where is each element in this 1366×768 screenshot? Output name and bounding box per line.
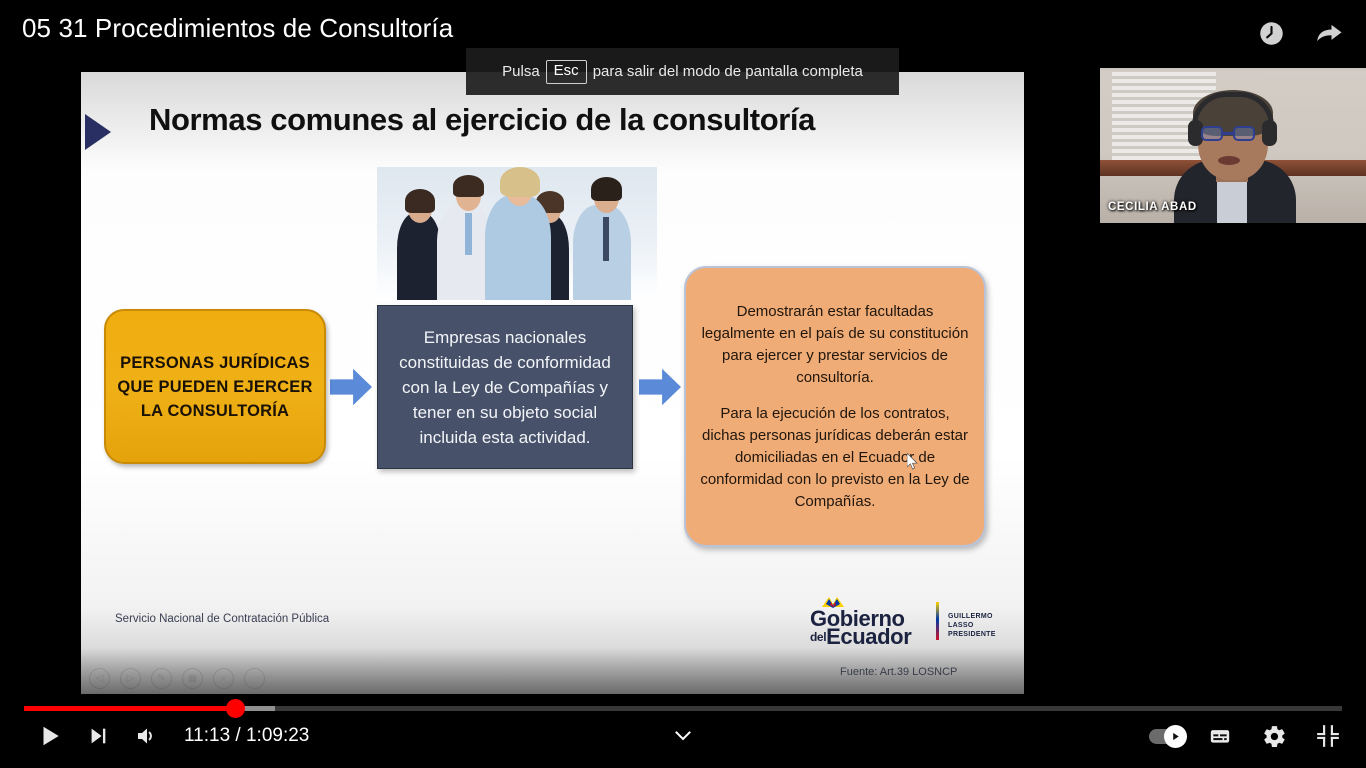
- logo-del-text: del: [810, 630, 826, 644]
- fullscreen-exit-toast: Pulsa Esc para salir del modo de pantall…: [466, 48, 899, 95]
- president-name: GUILLERMO LASSO: [948, 612, 1008, 630]
- video-title: 05 31 Procedimientos de Consultoría: [22, 13, 453, 44]
- logo-ecuador-word: Ecuador: [826, 624, 911, 649]
- box-empresas-nacionales: Empresas nacionales constituidas de conf…: [377, 305, 633, 469]
- subtitles-icon[interactable]: [1196, 712, 1244, 760]
- time-display: 11:13 / 1:09:23: [184, 725, 309, 747]
- progress-played: [24, 706, 237, 711]
- speaker-shirt: [1217, 178, 1247, 223]
- play-button[interactable]: [26, 712, 74, 760]
- expand-description-button[interactable]: [668, 722, 698, 750]
- autoplay-toggle-knob: [1164, 725, 1187, 748]
- gobierno-ecuador-logo: Gobierno delEcuador GUILLERMO LASSO PRES…: [808, 596, 1008, 642]
- glasses-bridge-icon: [1223, 132, 1233, 135]
- speaker-mouth: [1218, 156, 1240, 165]
- box-personas-juridicas: PERSONAS JURÍDICAS QUE PUEDEN EJERCER LA…: [104, 309, 326, 464]
- settings-gear-icon[interactable]: [1250, 712, 1298, 760]
- title-bullet-icon: [85, 114, 111, 150]
- flow-arrow-1-icon: [330, 368, 372, 406]
- watch-later-icon[interactable]: [1252, 14, 1290, 52]
- top-right-actions[interactable]: [1252, 14, 1348, 52]
- esc-key-badge: Esc: [546, 60, 587, 84]
- slide-title: Normas comunes al ejercicio de la consul…: [149, 102, 815, 138]
- player-controls-right[interactable]: [1142, 712, 1352, 760]
- progress-bar[interactable]: [24, 706, 1342, 711]
- business-people-photo: [377, 167, 657, 300]
- logo-divider: [936, 602, 939, 640]
- box-peach-paragraph-1: Demostrarán estar facultadas legalmente …: [700, 301, 970, 389]
- glasses-right-lens-icon: [1233, 126, 1255, 141]
- autoplay-toggle-button[interactable]: [1142, 712, 1190, 760]
- exit-fullscreen-icon[interactable]: [1304, 712, 1352, 760]
- next-video-button[interactable]: [74, 712, 122, 760]
- box-requisitos-domicilio: Demostrarán estar facultadas legalmente …: [684, 266, 986, 547]
- glasses-left-lens-icon: [1201, 126, 1223, 141]
- president-label: GUILLERMO LASSO PRESIDENTE: [948, 612, 1008, 639]
- presentation-slide: Normas comunes al ejercicio de la consul…: [81, 72, 1024, 694]
- flow-arrow-2-icon: [639, 368, 681, 406]
- player-controls-left[interactable]: 11:13 / 1:09:23: [26, 712, 309, 760]
- logo-ecuador-text: delEcuador: [810, 624, 911, 650]
- box-peach-paragraph-2: Para la ejecución de los contratos, dich…: [700, 403, 970, 513]
- autoplay-toggle-track[interactable]: [1149, 729, 1183, 744]
- mouse-cursor-icon: [907, 453, 918, 470]
- video-player[interactable]: Normas comunes al ejercicio de la consul…: [0, 0, 1366, 768]
- share-icon[interactable]: [1310, 14, 1348, 52]
- toast-prefix-text: Pulsa: [502, 63, 540, 80]
- volume-button[interactable]: [122, 712, 170, 760]
- speaker-webcam-overlay: CECILIA ABAD: [1100, 68, 1366, 223]
- toast-suffix-text: para salir del modo de pantalla completa: [593, 63, 863, 80]
- president-title: PRESIDENTE: [948, 630, 1008, 639]
- slide-institution-label: Servicio Nacional de Contratación Públic…: [115, 613, 329, 625]
- speaker-name-label: CECILIA ABAD: [1108, 201, 1197, 213]
